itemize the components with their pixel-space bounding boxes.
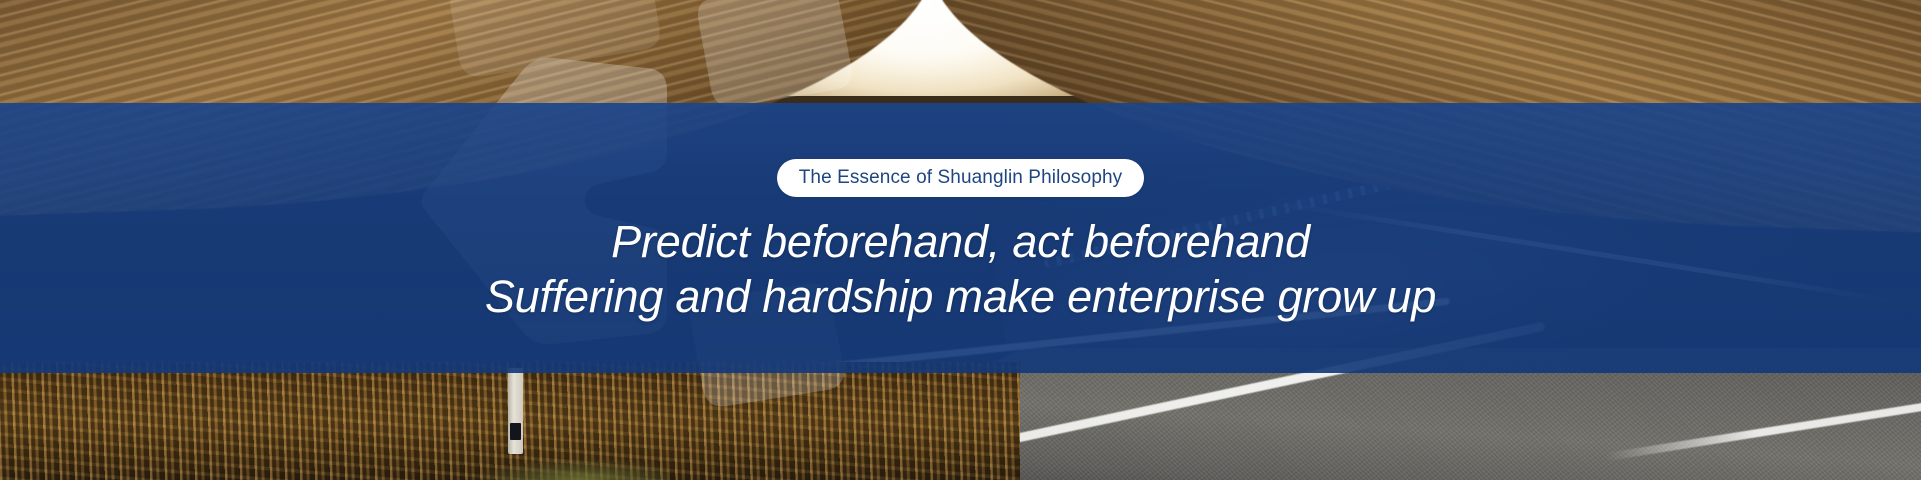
- eyebrow-badge: The Essence of Shuanglin Philosophy: [777, 159, 1145, 197]
- headline-line-1: Predict beforehand, act beforehand: [485, 214, 1436, 269]
- grass-tuft: [470, 446, 670, 480]
- hero-banner: The Essence of Shuanglin Philosophy Pred…: [0, 0, 1921, 480]
- headline-line-2: Suffering and hardship make enterprise g…: [485, 269, 1436, 324]
- headline: Predict beforehand, act beforehand Suffe…: [485, 214, 1436, 324]
- roadside-marker-post: [508, 368, 523, 454]
- banner-content: The Essence of Shuanglin Philosophy Pred…: [0, 103, 1921, 373]
